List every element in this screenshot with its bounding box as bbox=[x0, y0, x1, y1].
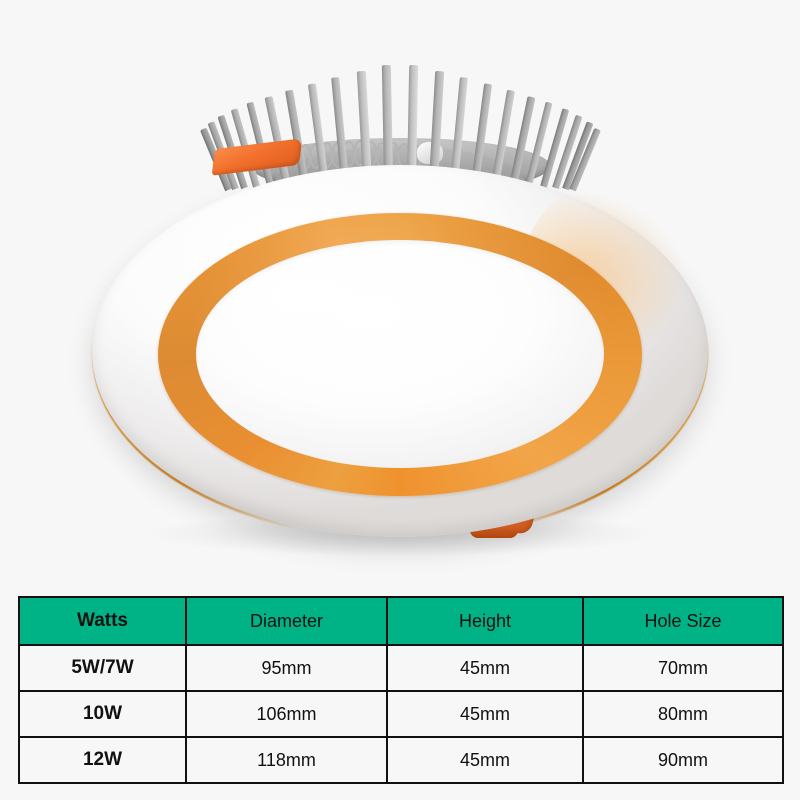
column-header-height: Height bbox=[387, 597, 583, 645]
heatsink-fin bbox=[382, 65, 393, 181]
cell-height: 45mm bbox=[387, 737, 583, 783]
column-header-diameter: Diameter bbox=[186, 597, 387, 645]
cell-watts: 12W bbox=[19, 737, 186, 783]
cell-height: 45mm bbox=[387, 645, 583, 691]
cell-hole-size: 80mm bbox=[583, 691, 783, 737]
table-row: 12W 118mm 45mm 90mm bbox=[19, 737, 783, 783]
table-header-row: Watts Diameter Height Hole Size bbox=[19, 597, 783, 645]
diffuser-lens bbox=[196, 240, 604, 468]
product-image bbox=[0, 0, 800, 580]
cell-watts: 5W/7W bbox=[19, 645, 186, 691]
heatsink-fin bbox=[407, 65, 418, 181]
specification-table: Watts Diameter Height Hole Size 5W/7W 95… bbox=[18, 596, 784, 784]
cell-hole-size: 70mm bbox=[583, 645, 783, 691]
cell-height: 45mm bbox=[387, 691, 583, 737]
table-row: 10W 106mm 45mm 80mm bbox=[19, 691, 783, 737]
column-header-watts: Watts bbox=[19, 597, 186, 645]
table-row: 5W/7W 95mm 45mm 70mm bbox=[19, 645, 783, 691]
cell-diameter: 118mm bbox=[186, 737, 387, 783]
cell-watts: 10W bbox=[19, 691, 186, 737]
cell-hole-size: 90mm bbox=[583, 737, 783, 783]
cell-diameter: 95mm bbox=[186, 645, 387, 691]
column-header-hole-size: Hole Size bbox=[583, 597, 783, 645]
specification-table-container: Watts Diameter Height Hole Size 5W/7W 95… bbox=[18, 596, 782, 784]
cell-diameter: 106mm bbox=[186, 691, 387, 737]
